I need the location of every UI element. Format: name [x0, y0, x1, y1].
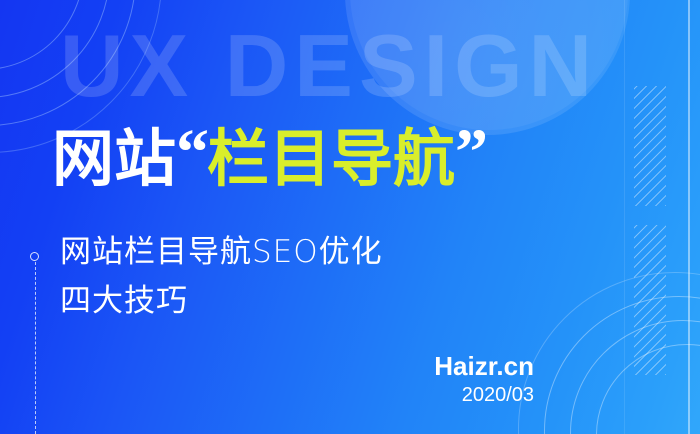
- page-title: 网站“栏目导航”: [52, 120, 486, 190]
- brand-block: Haizr.cn 2020/03: [434, 352, 534, 408]
- brand-date: 2020/03: [434, 383, 534, 408]
- poster-banner: UX DESIGN 网站“栏目导航” 网站栏目导航SEO优化 四大技巧 Haiz…: [0, 0, 700, 434]
- dashed-line-icon: [35, 262, 36, 434]
- subtitle-line-1: 网站栏目导航SEO优化: [60, 228, 383, 277]
- concentric-arcs-icon: [518, 272, 700, 434]
- circle-dot-icon: [30, 252, 39, 261]
- subtitle-line-2: 四大技巧: [60, 277, 383, 326]
- subtitle: 网站栏目导航SEO优化 四大技巧: [60, 228, 383, 326]
- watermark-title: UX DESIGN: [60, 22, 598, 110]
- concentric-arcs-icon: [596, 344, 700, 434]
- diagonal-hatch-icon: [634, 86, 666, 206]
- quote-close-icon: ”: [455, 116, 486, 189]
- vertical-rule-faint-icon: [624, 0, 625, 434]
- headline-part-prefix: 网站: [52, 122, 176, 195]
- concentric-arcs-icon: [570, 320, 700, 434]
- headline-part-highlight: 栏目导航: [207, 122, 455, 195]
- concentric-arcs-icon: [544, 296, 700, 434]
- diagonal-hatch-icon: [634, 225, 666, 375]
- brand-site: Haizr.cn: [434, 352, 534, 380]
- vertical-rule-icon: [688, 0, 690, 434]
- quote-open-icon: “: [176, 116, 207, 189]
